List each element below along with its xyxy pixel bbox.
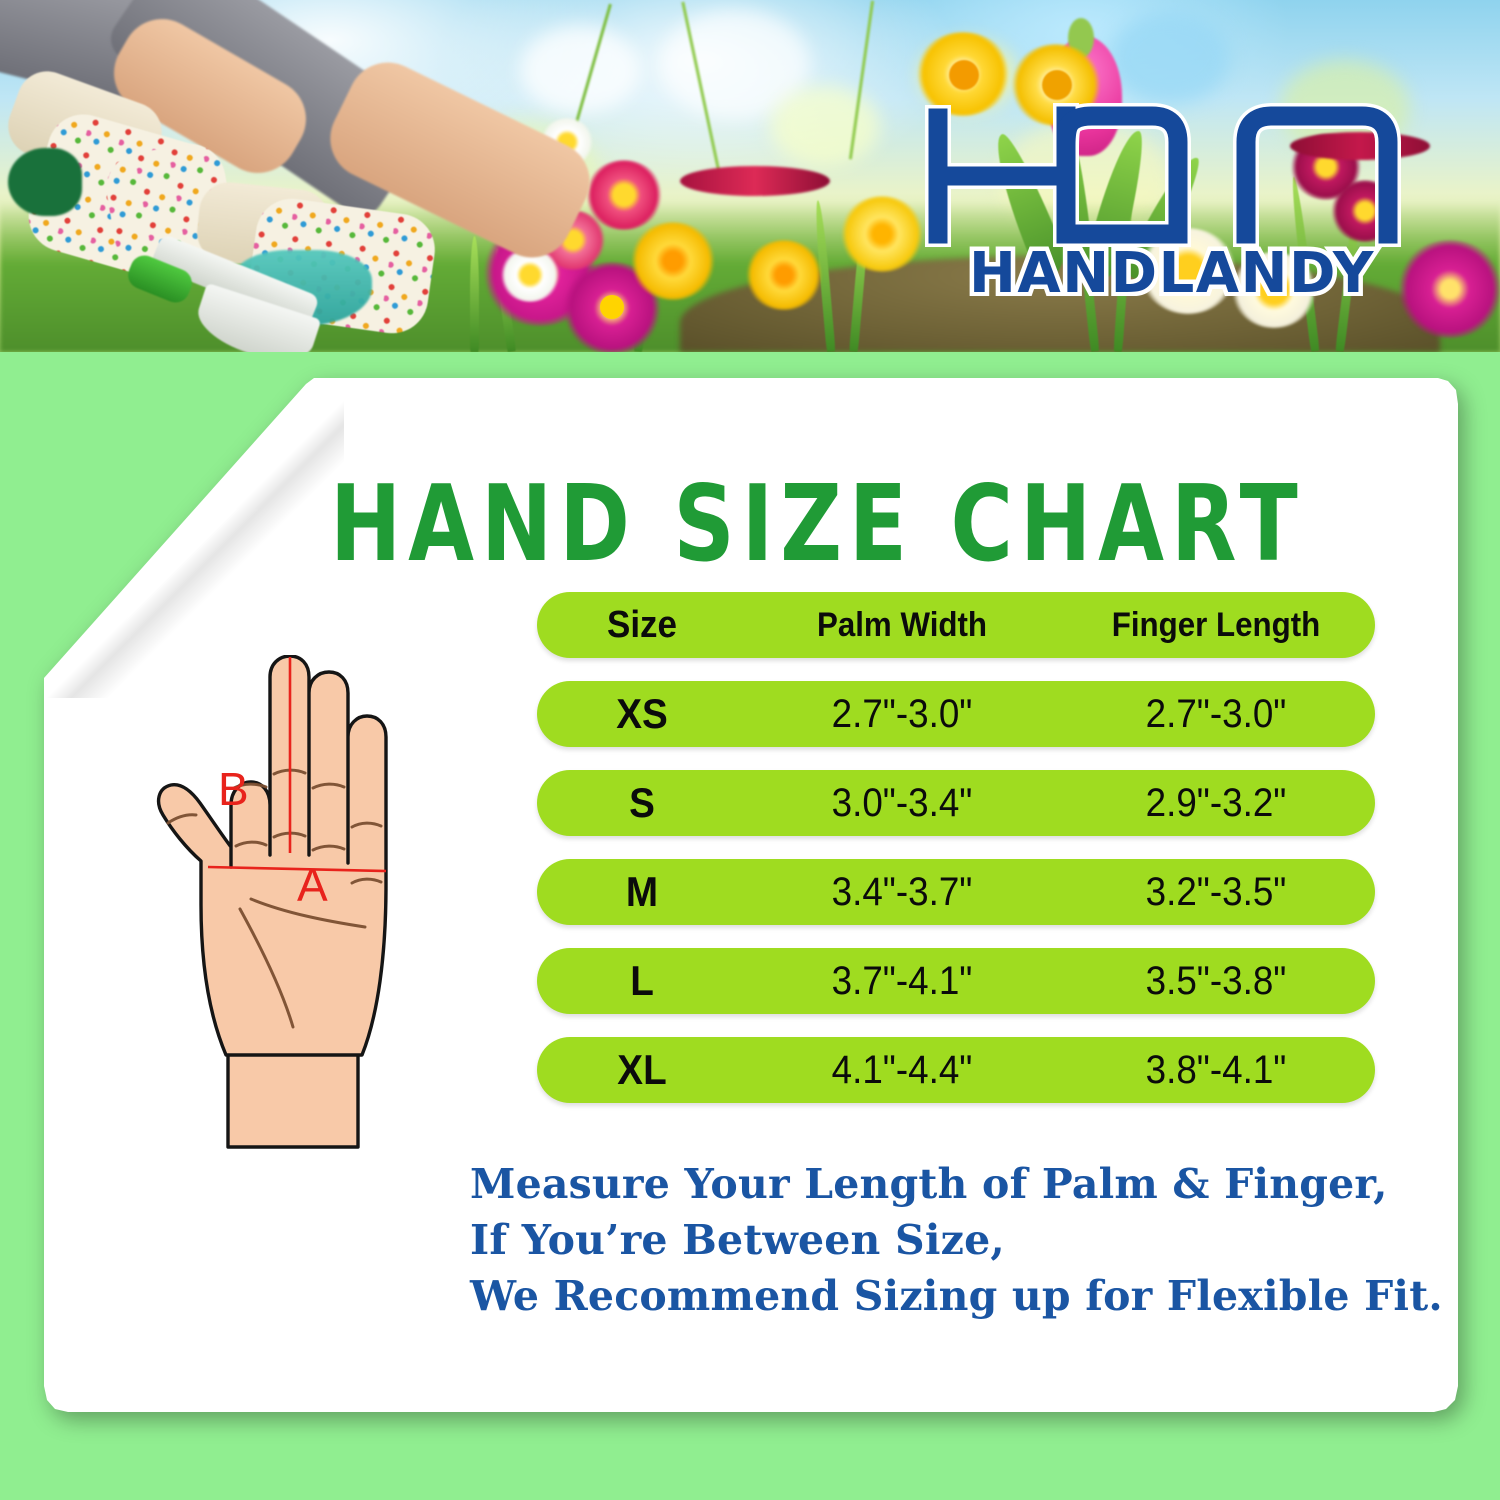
sizing-note: Measure Your Length of Palm & Finger, If… [470, 1156, 1430, 1324]
yellow-flower [840, 196, 924, 274]
yellow-flower [745, 240, 823, 312]
table-row[interactable]: XS 2.7"-3.0" 2.7"-3.0" [537, 681, 1375, 747]
cell-finger: 2.9"-3.2" [1070, 781, 1363, 826]
table-row[interactable]: L 3.7"-4.1" 3.5"-3.8" [537, 948, 1375, 1014]
page-title: HAND SIZE CHART [330, 466, 1419, 583]
table-header-row: Size Palm Width Finger Length [537, 592, 1375, 658]
brand-logo: HANDLANDY [916, 96, 1428, 296]
hand-measurement-diagram [100, 655, 480, 1155]
cell-finger: 3.5"-3.8" [1070, 959, 1363, 1004]
table-row[interactable]: XL 4.1"-4.4" 3.8"-4.1" [537, 1037, 1375, 1103]
sizing-note-line-2: If You’re Between Size, [470, 1212, 1430, 1268]
cell-palm: 3.4"-3.7" [759, 870, 1044, 915]
table-row[interactable]: S 3.0"-3.4" 2.9"-3.2" [537, 770, 1375, 836]
cell-palm: 2.7"-3.0" [759, 692, 1044, 737]
column-header-finger: Finger Length [1070, 606, 1363, 645]
cell-size: S [545, 779, 738, 827]
cell-palm: 3.0"-3.4" [759, 781, 1044, 826]
cell-size: XL [545, 1046, 738, 1094]
grass-blade [470, 236, 479, 352]
brand-wordmark: HANDLANDY [969, 241, 1375, 296]
measure-label-b: B [218, 766, 249, 812]
column-header-palm: Palm Width [759, 606, 1044, 645]
cell-size: M [545, 868, 738, 916]
glove-knit-patch [8, 148, 82, 216]
cell-finger: 3.2"-3.5" [1070, 870, 1363, 915]
cell-palm: 3.7"-4.1" [759, 959, 1044, 1004]
cell-palm: 4.1"-4.4" [759, 1048, 1044, 1093]
cell-size: XS [545, 690, 738, 738]
cell-finger: 3.8"-4.1" [1070, 1048, 1363, 1093]
column-header-size: Size [545, 604, 738, 647]
page-root: HANDLANDY HAND SIZE CHART Size Palm Widt… [0, 0, 1500, 1500]
size-table: Size Palm Width Finger Length XS 2.7"-3.… [537, 592, 1375, 1126]
cell-finger: 2.7"-3.0" [1070, 692, 1363, 737]
cell-size: L [545, 957, 738, 1005]
spiky-flower [680, 160, 830, 204]
table-row[interactable]: M 3.4"-3.7" 3.2"-3.5" [537, 859, 1375, 925]
measure-label-a: A [297, 862, 328, 908]
yellow-flower [630, 222, 716, 302]
sizing-note-line-3: We Recommend Sizing up for Flexible Fit. [470, 1268, 1430, 1324]
sizing-note-line-1: Measure Your Length of Palm & Finger, [470, 1156, 1430, 1212]
bokeh-blob [770, 86, 880, 166]
